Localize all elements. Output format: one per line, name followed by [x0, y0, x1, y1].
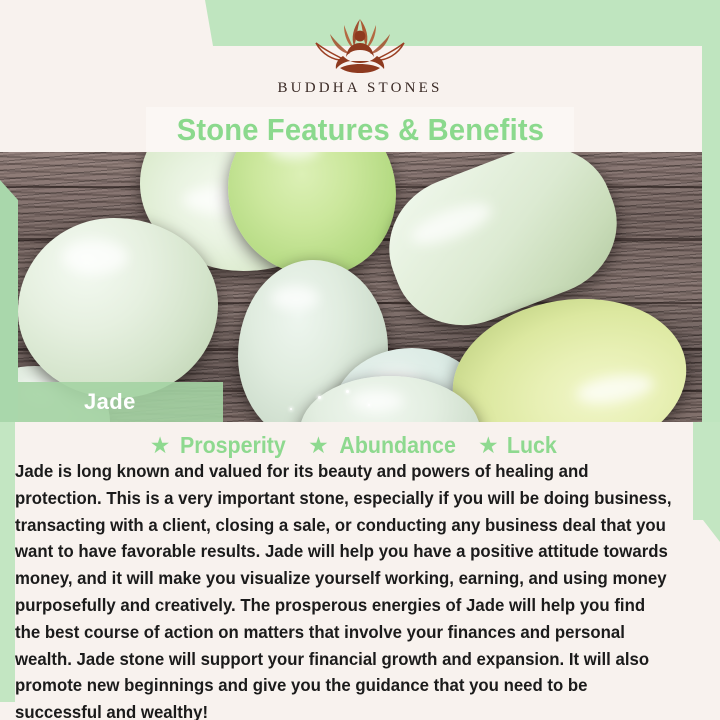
star-icon: ★	[308, 434, 329, 457]
lotus-meditation-icon	[300, 12, 420, 78]
star-icon: ★	[150, 434, 171, 457]
decor-left-green-bar	[0, 180, 18, 422]
benefit-item-luck: ★ Luck	[478, 432, 558, 459]
stone-features-infographic: BUDDHA STONES Stone Features & Benefits …	[0, 0, 720, 720]
benefit-item-abundance: ★ Abundance	[308, 432, 460, 459]
stone-description: Jade is long known and valued for its be…	[15, 458, 673, 720]
benefit-item-prosperity: ★ Prosperity	[150, 432, 290, 459]
brand-name: BUDDHA STONES	[0, 80, 720, 97]
stone-name-text: Jade	[84, 389, 136, 415]
benefit-label: Abundance	[339, 432, 455, 459]
title-banner: Stone Features & Benefits	[146, 107, 574, 152]
star-icon: ★	[478, 434, 499, 457]
stone-name-label: Jade	[18, 382, 223, 422]
decor-left-text-green-bar	[0, 422, 15, 702]
brand-logo: BUDDHA STONES	[0, 12, 720, 97]
decor-right-green-strip	[702, 0, 720, 460]
decor-right-text-green-bar	[693, 422, 720, 542]
jade-stone	[18, 218, 218, 398]
page-title: Stone Features & Benefits	[176, 112, 543, 148]
benefit-label: Prosperity	[180, 432, 286, 459]
benefits-row: ★ Prosperity ★ Abundance ★ Luck	[15, 428, 693, 462]
benefit-label: Luck	[506, 432, 556, 459]
